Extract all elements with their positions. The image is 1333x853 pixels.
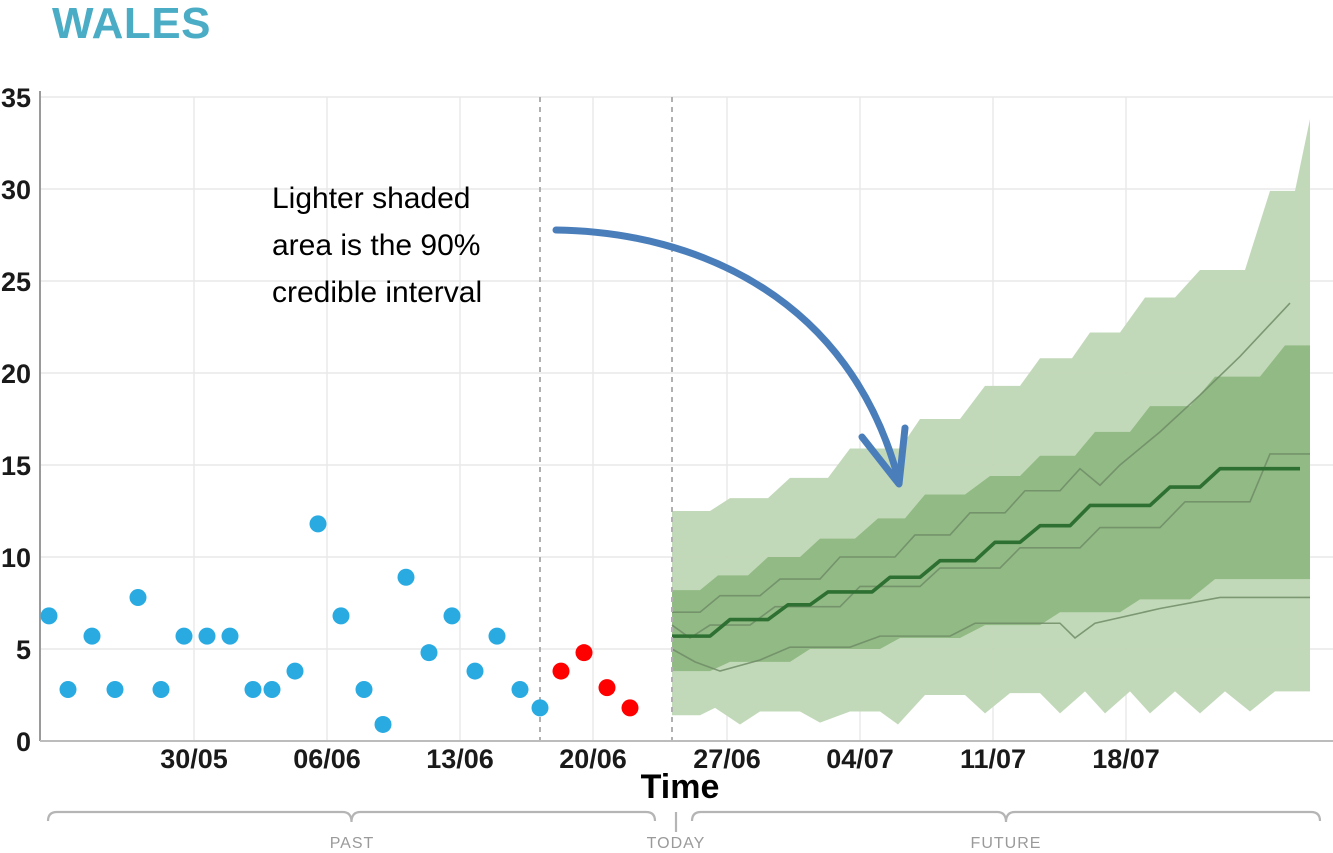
y-tick-label: 5: [16, 635, 31, 665]
observed-point: [264, 681, 281, 698]
phase-bracket: [48, 812, 655, 822]
phase-label-past: PAST: [330, 835, 375, 852]
observed-point: [421, 644, 438, 661]
y-tick-label: 15: [1, 451, 31, 481]
observed-recent-points: [553, 644, 639, 716]
forecast-chart: 05101520253035 30/0506/0613/0620/0627/06…: [0, 0, 1333, 853]
y-axis-tick-labels: 05101520253035: [1, 83, 31, 757]
observed-point: [199, 628, 216, 645]
annotation-line-3: credible interval: [272, 276, 482, 309]
annotation-line-2: area is the 90%: [272, 229, 480, 262]
annotation-arrow: [556, 230, 905, 484]
observed-point: [245, 681, 262, 698]
observed-point: [489, 628, 506, 645]
observed-point: [287, 663, 304, 680]
x-axis-title: Time: [641, 768, 720, 806]
observed-point: [310, 515, 327, 532]
y-tick-label: 25: [1, 267, 31, 297]
x-tick-label: 06/06: [293, 744, 361, 774]
credible-interval-bands: [672, 119, 1310, 724]
y-tick-label: 30: [1, 175, 31, 205]
observed-point: [444, 607, 461, 624]
annotation-line-1: Lighter shaded: [272, 182, 471, 215]
x-tick-label: 20/06: [559, 744, 627, 774]
phase-label-today: TODAY: [647, 835, 706, 852]
y-tick-label: 20: [1, 359, 31, 389]
x-tick-label: 04/07: [826, 744, 894, 774]
observed-past-points: [41, 515, 549, 733]
observed-point: [153, 681, 170, 698]
observed-point: [176, 628, 193, 645]
y-tick-label: 0: [16, 727, 31, 757]
y-tick-label: 35: [1, 83, 31, 113]
observed-point: [107, 681, 124, 698]
observed-recent-point: [622, 699, 639, 716]
observed-point: [512, 681, 529, 698]
observed-point: [532, 699, 549, 716]
x-tick-label: 30/05: [160, 744, 228, 774]
phase-brackets: [48, 812, 1320, 832]
observed-point: [333, 607, 350, 624]
y-tick-label: 10: [1, 543, 31, 573]
observed-point: [41, 607, 58, 624]
observed-recent-point: [576, 644, 593, 661]
x-tick-label: 11/07: [960, 744, 1026, 774]
x-tick-label: 18/07: [1092, 744, 1160, 774]
phase-label-future: FUTURE: [971, 835, 1042, 852]
x-tick-label: 13/06: [426, 744, 494, 774]
observed-recent-point: [599, 679, 616, 696]
observed-point: [398, 569, 415, 586]
today-marker-lines: [540, 97, 672, 741]
observed-recent-point: [553, 663, 570, 680]
observed-point: [356, 681, 373, 698]
observed-point: [84, 628, 101, 645]
observed-point: [60, 681, 77, 698]
observed-point: [467, 663, 484, 680]
chart-page: WALES 05101520253035 30/0506/0613/0620/0…: [0, 0, 1333, 853]
observed-point: [130, 589, 147, 606]
observed-point: [222, 628, 239, 645]
observed-point: [375, 716, 392, 733]
phase-bracket: [692, 812, 1320, 822]
